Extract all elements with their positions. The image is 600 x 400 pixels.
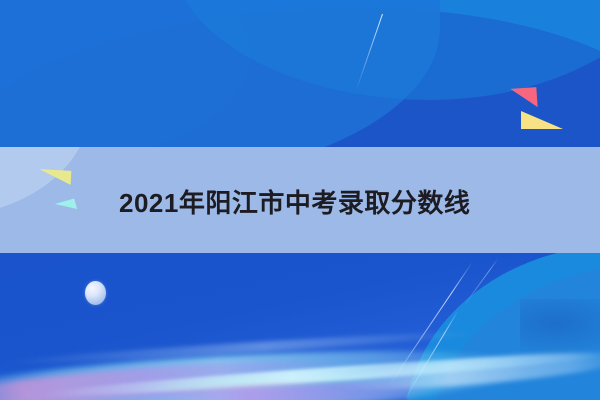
pink-triangle-icon [510,87,537,109]
yellow-triangle-accent-icon [39,169,72,185]
top-wave-section [0,0,600,147]
glowing-sphere-icon [85,281,106,305]
yellow-triangle-icon [521,111,563,129]
banner-card: 2021年阳江市中考录取分数线 [0,0,600,400]
page-title: 2021年阳江市中考录取分数线 [119,186,470,220]
bottom-right-shadow [520,299,600,359]
